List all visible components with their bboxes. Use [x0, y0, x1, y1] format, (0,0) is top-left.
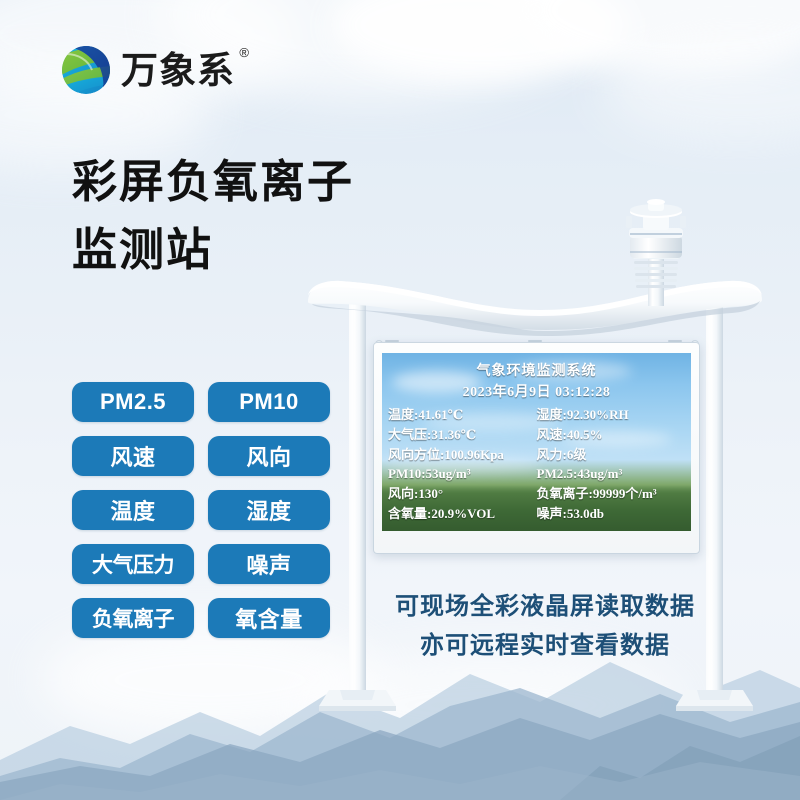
ultrasonic-weather-sensor-icon: [626, 199, 686, 288]
lcd-datetime: 2023年6月9日 03:12:28: [382, 381, 691, 401]
lcd-display-frame: 气象环境监测系统 2023年6月9日 03:12:28 温度:41.61℃ 湿度…: [373, 342, 700, 554]
pill-humidity[interactable]: 湿度: [208, 490, 330, 530]
pill-label: 氧含量: [235, 602, 303, 634]
lcd-title: 气象环境监测系统: [382, 360, 691, 380]
brand-logo: 万象系®: [60, 44, 235, 96]
pill-wind-speed[interactable]: 风速: [72, 436, 194, 476]
pill-noise[interactable]: 噪声: [208, 544, 330, 584]
globe-swirl-icon: [60, 44, 112, 96]
pill-label: 风向: [246, 440, 291, 472]
lcd-cell-pm25: PM2.5:43ug/m³: [537, 464, 686, 484]
feature-caption-line1: 可现场全彩液晶屏读取数据: [390, 588, 700, 627]
lcd-cell-noise: 噪声:53.0db: [537, 504, 686, 524]
pill-negative-oxygen-ion[interactable]: 负氧离子: [72, 598, 194, 638]
pill-label: 风速: [110, 440, 155, 472]
left-base-plate-icon: [319, 690, 396, 711]
lcd-cell-oxygen-content: 含氧量:20.9%VOL: [388, 504, 537, 524]
lcd-row: 含氧量:20.9%VOL 噪声:53.0db: [382, 504, 691, 524]
lcd-row: 风向方位:100.96Kpa 风力:6级: [382, 445, 691, 465]
brand-name-text: 万象系: [121, 50, 235, 91]
lcd-measurement-rows: 温度:41.61℃ 湿度:92.30%RH 大气压:31.36℃ 风速:40.5…: [382, 405, 691, 524]
pill-label: 大气压力: [92, 549, 174, 579]
registered-trademark-icon: ®: [239, 46, 250, 59]
pill-pm10[interactable]: PM10: [208, 382, 330, 422]
page-title: 彩屏负氧离子 监测站: [72, 148, 354, 283]
feature-caption: 可现场全彩液晶屏读取数据 亦可远程实时查看数据: [390, 588, 700, 666]
left-pole-icon: [349, 300, 366, 690]
lcd-cell-negative-oxygen-ion: 负氧离子:99999个/m³: [537, 484, 686, 504]
lcd-cell-wind-bearing: 风向方位:100.96Kpa: [388, 445, 537, 465]
lcd-readout: 气象环境监测系统 2023年6月9日 03:12:28 温度:41.61℃ 湿度…: [382, 353, 691, 531]
brand-name: 万象系®: [121, 52, 235, 89]
sensor-mast-icon: [648, 244, 664, 306]
lcd-cell-wind-direction: 风向:130°: [388, 484, 537, 504]
pill-label: 温度: [110, 494, 155, 526]
lcd-row: 风向:130° 负氧离子:99999个/m³: [382, 484, 691, 504]
page-title-line1: 彩屏负氧离子: [72, 148, 354, 216]
right-pole-icon: [706, 300, 723, 690]
lcd-row: PM10:53ug/m³ PM2.5:43ug/m³: [382, 464, 691, 484]
lcd-cell-pm10: PM10:53ug/m³: [388, 464, 537, 484]
pill-oxygen-content[interactable]: 氧含量: [208, 598, 330, 638]
feature-caption-line2: 亦可远程实时查看数据: [390, 627, 700, 666]
mountain-forest-ridge: [0, 726, 800, 800]
lcd-screen[interactable]: 气象环境监测系统 2023年6月9日 03:12:28 温度:41.61℃ 湿度…: [382, 353, 691, 531]
lcd-row: 温度:41.61℃ 湿度:92.30%RH: [382, 405, 691, 425]
pill-label: 噪声: [246, 548, 291, 580]
lcd-cell-temperature: 温度:41.61℃: [388, 405, 537, 425]
mountain-range-mid: [0, 668, 800, 800]
pill-label: 负氧离子: [92, 603, 174, 633]
pill-pm25[interactable]: PM2.5: [72, 382, 194, 422]
pill-label: PM2.5: [100, 389, 166, 415]
lcd-row: 大气压:31.36℃ 风速:40.5%: [382, 425, 691, 445]
pill-temperature[interactable]: 温度: [72, 490, 194, 530]
lcd-cell-air-pressure: 大气压:31.36℃: [388, 425, 537, 445]
pill-wind-direction[interactable]: 风向: [208, 436, 330, 476]
lcd-cell-wind-force: 风力:6级: [537, 445, 686, 465]
lcd-cell-wind-speed: 风速:40.5%: [537, 425, 686, 445]
pill-label: 湿度: [246, 494, 291, 526]
product-poster: 万象系® 彩屏负氧离子 监测站 PM2.5 PM10 风速 风向 温度 湿度 大…: [0, 0, 800, 800]
mountain-range-near: [0, 700, 800, 800]
pill-label: PM10: [239, 389, 298, 415]
page-title-line2: 监测站: [72, 216, 354, 284]
right-base-plate-icon: [676, 690, 753, 711]
lcd-cell-humidity: 湿度:92.30%RH: [537, 405, 686, 425]
pill-air-pressure[interactable]: 大气压力: [72, 544, 194, 584]
measurement-tag-list: PM2.5 PM10 风速 风向 温度 湿度 大气压力 噪声 负氧离子 氧含量: [72, 382, 330, 638]
wave-canopy-icon: [308, 281, 762, 336]
